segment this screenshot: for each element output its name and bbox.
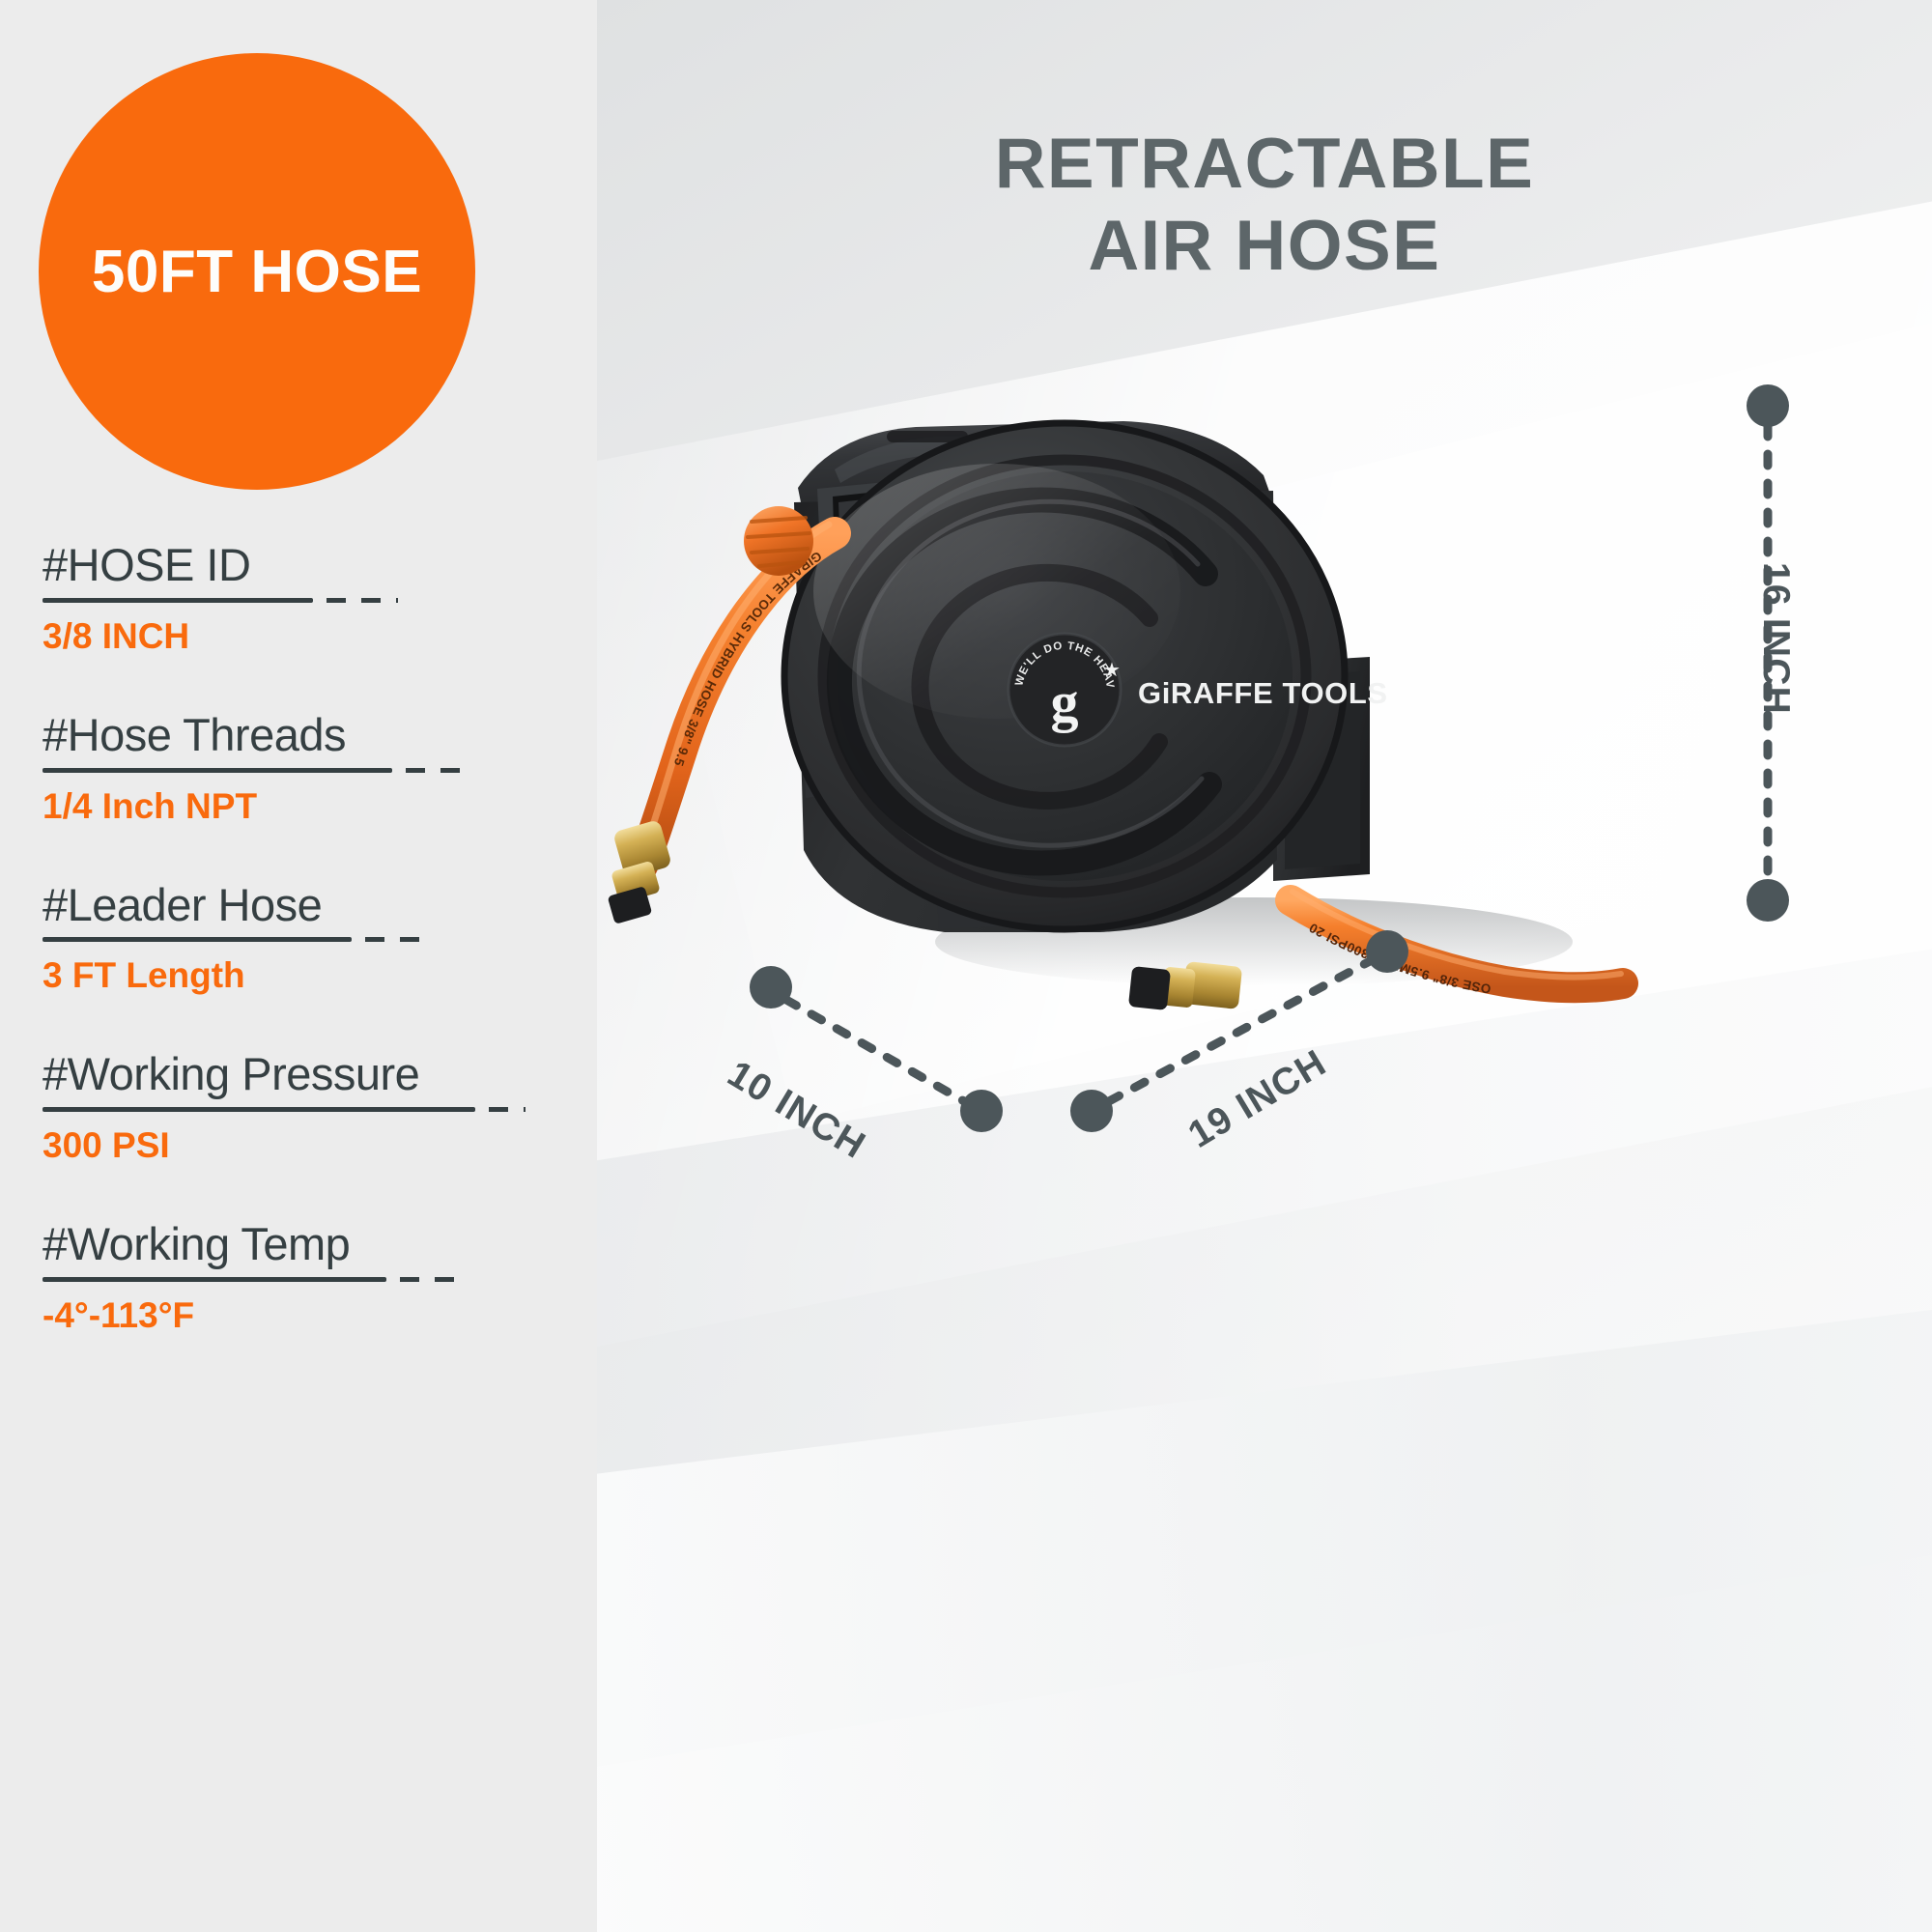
spec-heading-row: #Working Pressure	[43, 1050, 583, 1099]
spec-list: #HOSE ID 3/8 INCH #Hose Threads 1/4 Inch…	[43, 541, 583, 1390]
spec-rule-dashed	[327, 598, 398, 603]
dim-endpoint	[1366, 930, 1408, 973]
spec-name: #Hose Threads	[43, 711, 346, 760]
product-illustration: WE'LL DO THE HEAVY LIFTING g ★ GiRAFFE T…	[597, 0, 1932, 1932]
dimension-label-height: 16 INCH	[1754, 562, 1797, 715]
dim-endpoint	[1070, 1090, 1113, 1132]
hose-fitting-lower	[1128, 961, 1242, 1010]
spec-item-working-temp: #Working Temp -4°-113°F	[43, 1220, 583, 1336]
infographic-canvas: 50FT HOSE #HOSE ID 3/8 INCH #Hose Thread…	[0, 0, 1932, 1932]
spec-rule-solid	[43, 768, 392, 773]
spec-value: 3 FT Length	[43, 955, 583, 996]
spec-rule	[43, 1106, 583, 1113]
spec-value: -4°-113°F	[43, 1295, 583, 1336]
spec-heading-row: #Working Temp	[43, 1220, 583, 1269]
spec-rule-solid	[43, 937, 352, 942]
dim-endpoint	[750, 966, 792, 1009]
product-panel: RETRACTABLE AIR HOSE	[597, 0, 1932, 1932]
spec-rule-dashed	[406, 768, 460, 773]
spec-name: #HOSE ID	[43, 541, 250, 590]
spec-value: 1/4 Inch NPT	[43, 786, 583, 827]
spec-rule	[43, 597, 583, 604]
spec-heading-row: #Leader Hose	[43, 881, 583, 930]
left-spec-panel: 50FT HOSE #HOSE ID 3/8 INCH #Hose Thread…	[0, 0, 597, 1932]
dim-endpoint	[960, 1090, 1003, 1132]
spec-rule-dashed	[400, 1277, 454, 1282]
spec-name: #Leader Hose	[43, 881, 322, 930]
spec-name: #Working Temp	[43, 1220, 350, 1269]
spec-rule-solid	[43, 1277, 386, 1282]
spec-heading-row: #HOSE ID	[43, 541, 583, 590]
brand-star-icon: ★	[1103, 660, 1121, 681]
spec-item-hose-id: #HOSE ID 3/8 INCH	[43, 541, 583, 657]
spec-name: #Working Pressure	[43, 1050, 419, 1099]
dim-endpoint	[1747, 384, 1789, 427]
badge-label: 50FT HOSE	[92, 238, 422, 306]
spec-value: 300 PSI	[43, 1125, 583, 1166]
spec-item-leader-hose: #Leader Hose 3 FT Length	[43, 881, 583, 997]
spec-value: 3/8 INCH	[43, 616, 583, 657]
spec-rule	[43, 767, 583, 774]
brand-mark: g	[1051, 670, 1079, 733]
reel-disc-sheen	[813, 464, 1180, 719]
hose-fitting-upper	[608, 819, 672, 924]
spec-rule	[43, 936, 583, 943]
spec-item-working-pressure: #Working Pressure 300 PSI	[43, 1050, 583, 1166]
spec-rule-solid	[43, 598, 313, 603]
spec-heading-row: #Hose Threads	[43, 711, 583, 760]
spec-rule-dashed	[365, 937, 419, 942]
spec-rule	[43, 1276, 583, 1283]
spec-rule-dashed	[489, 1107, 526, 1112]
spec-item-hose-threads: #Hose Threads 1/4 Inch NPT	[43, 711, 583, 827]
hose-length-badge: 50FT HOSE	[39, 53, 475, 490]
dim-endpoint	[1747, 879, 1789, 922]
spec-rule-solid	[43, 1107, 475, 1112]
brand-name: GiRAFFE TOOLS	[1138, 676, 1388, 710]
